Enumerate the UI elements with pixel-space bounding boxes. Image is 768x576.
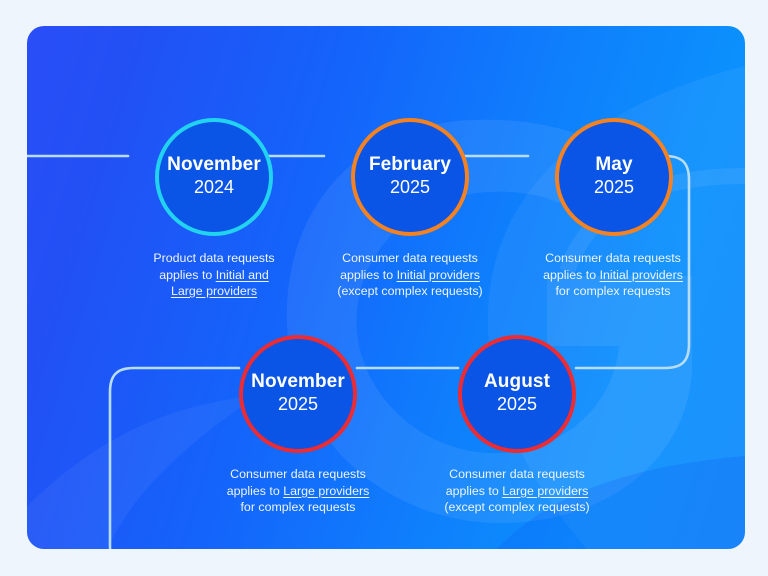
caption-text: Consumer data requests: [449, 467, 585, 481]
caption-emphasis: Initial providers: [600, 268, 683, 282]
caption-line: applies to Large providers: [193, 483, 403, 500]
timeline-caption-may2025: Consumer data requestsapplies to Initial…: [508, 250, 718, 300]
caption-line: Product data requests: [109, 250, 319, 267]
caption-text: applies to: [446, 484, 502, 498]
node-month-label: August: [484, 372, 550, 393]
caption-text: for complex requests: [240, 500, 355, 514]
timeline-caption-feb2025: Consumer data requestsapplies to Initial…: [305, 250, 515, 300]
timeline-caption-aug2025: Consumer data requestsapplies to Large p…: [412, 466, 622, 516]
caption-line: (except complex requests): [412, 499, 622, 516]
caption-emphasis: Large providers: [283, 484, 369, 498]
caption-text: applies to: [159, 268, 215, 282]
caption-line: for complex requests: [193, 499, 403, 516]
node-year-label: 2025: [497, 393, 537, 416]
caption-text: (except complex requests): [444, 500, 589, 514]
caption-text: Consumer data requests: [342, 251, 478, 265]
caption-emphasis: Large providers: [171, 284, 257, 298]
node-month-label: May: [595, 155, 632, 176]
caption-emphasis: Initial and: [216, 268, 269, 282]
caption-text: applies to: [227, 484, 283, 498]
timeline-node-may2025[interactable]: May 2025: [555, 118, 673, 236]
infographic-canvas: November 2024 February 2025 May 2025 Nov…: [0, 0, 768, 576]
timeline-node-aug2025[interactable]: August 2025: [458, 335, 576, 453]
timeline-node-nov2024[interactable]: November 2024: [155, 118, 273, 236]
node-year-label: 2025: [278, 393, 318, 416]
caption-text: Consumer data requests: [230, 467, 366, 481]
caption-line: for complex requests: [508, 283, 718, 300]
timeline-node-feb2025[interactable]: February 2025: [351, 118, 469, 236]
timeline-card: November 2024 February 2025 May 2025 Nov…: [27, 26, 745, 549]
timeline-caption-nov2024: Product data requestsapplies to Initial …: [109, 250, 319, 300]
node-year-label: 2025: [390, 176, 430, 199]
caption-line: Large providers: [109, 283, 319, 300]
caption-line: Consumer data requests: [305, 250, 515, 267]
node-year-label: 2024: [194, 176, 234, 199]
caption-line: applies to Initial providers: [305, 267, 515, 284]
caption-emphasis: Large providers: [502, 484, 588, 498]
caption-text: Product data requests: [153, 251, 274, 265]
node-year-label: 2025: [594, 176, 634, 199]
node-month-label: February: [369, 155, 451, 176]
caption-text: Consumer data requests: [545, 251, 681, 265]
caption-emphasis: Initial providers: [397, 268, 480, 282]
timeline-node-nov2025[interactable]: November 2025: [239, 335, 357, 453]
caption-line: applies to Initial providers: [508, 267, 718, 284]
caption-text: for complex requests: [555, 284, 670, 298]
caption-text: applies to: [543, 268, 599, 282]
caption-line: applies to Large providers: [412, 483, 622, 500]
timeline-caption-nov2025: Consumer data requestsapplies to Large p…: [193, 466, 403, 516]
node-month-label: November: [251, 372, 345, 393]
caption-line: (except complex requests): [305, 283, 515, 300]
node-month-label: November: [167, 155, 261, 176]
caption-line: applies to Initial and: [109, 267, 319, 284]
caption-line: Consumer data requests: [412, 466, 622, 483]
caption-line: Consumer data requests: [508, 250, 718, 267]
caption-text: applies to: [340, 268, 396, 282]
caption-text: (except complex requests): [337, 284, 482, 298]
caption-line: Consumer data requests: [193, 466, 403, 483]
